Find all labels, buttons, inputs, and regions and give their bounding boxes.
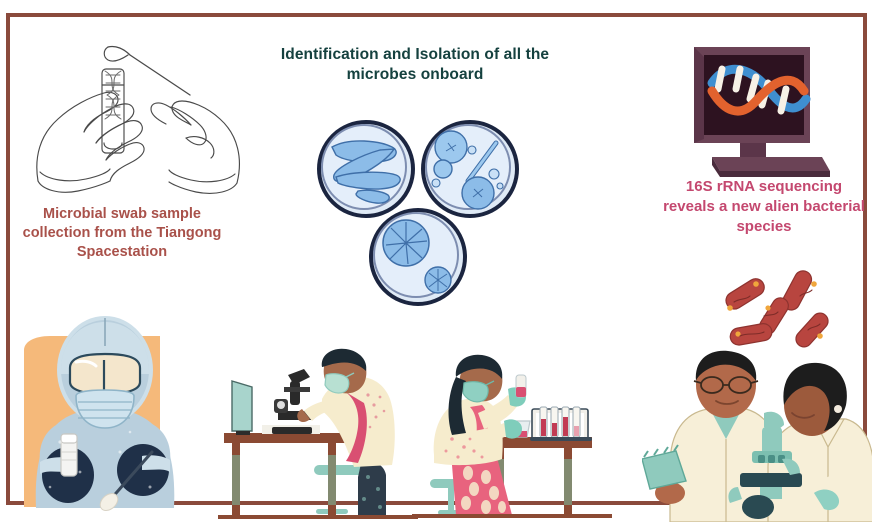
petri-dish-1 xyxy=(319,122,413,216)
petri-dish-2 xyxy=(423,122,517,216)
petri-dish-3 xyxy=(371,210,465,304)
left-caption: Microbial swab sample collection from th… xyxy=(16,205,228,262)
poster-frame: Identification and Isolation of all the … xyxy=(6,13,867,505)
swab-collection-illustration xyxy=(24,31,254,196)
hazmat-worker-illustration xyxy=(10,312,200,512)
right-caption: 16S rRNA sequencing reveals a new alien … xyxy=(658,177,870,236)
two-scientists-microscope-illustration xyxy=(642,347,872,522)
scientist-with-test-tubes-illustration xyxy=(412,347,612,527)
scientist-at-microscope-illustration xyxy=(218,347,418,527)
center-title: Identification and Isolation of all the … xyxy=(265,45,565,86)
petri-dishes-illustration xyxy=(310,117,525,312)
rod-bacteria-cluster xyxy=(716,272,836,352)
poster-canvas: Identification and Isolation of all the … xyxy=(0,0,878,525)
scientist-at-microscope xyxy=(768,363,872,522)
dna-sequencing-monitor xyxy=(682,39,842,179)
